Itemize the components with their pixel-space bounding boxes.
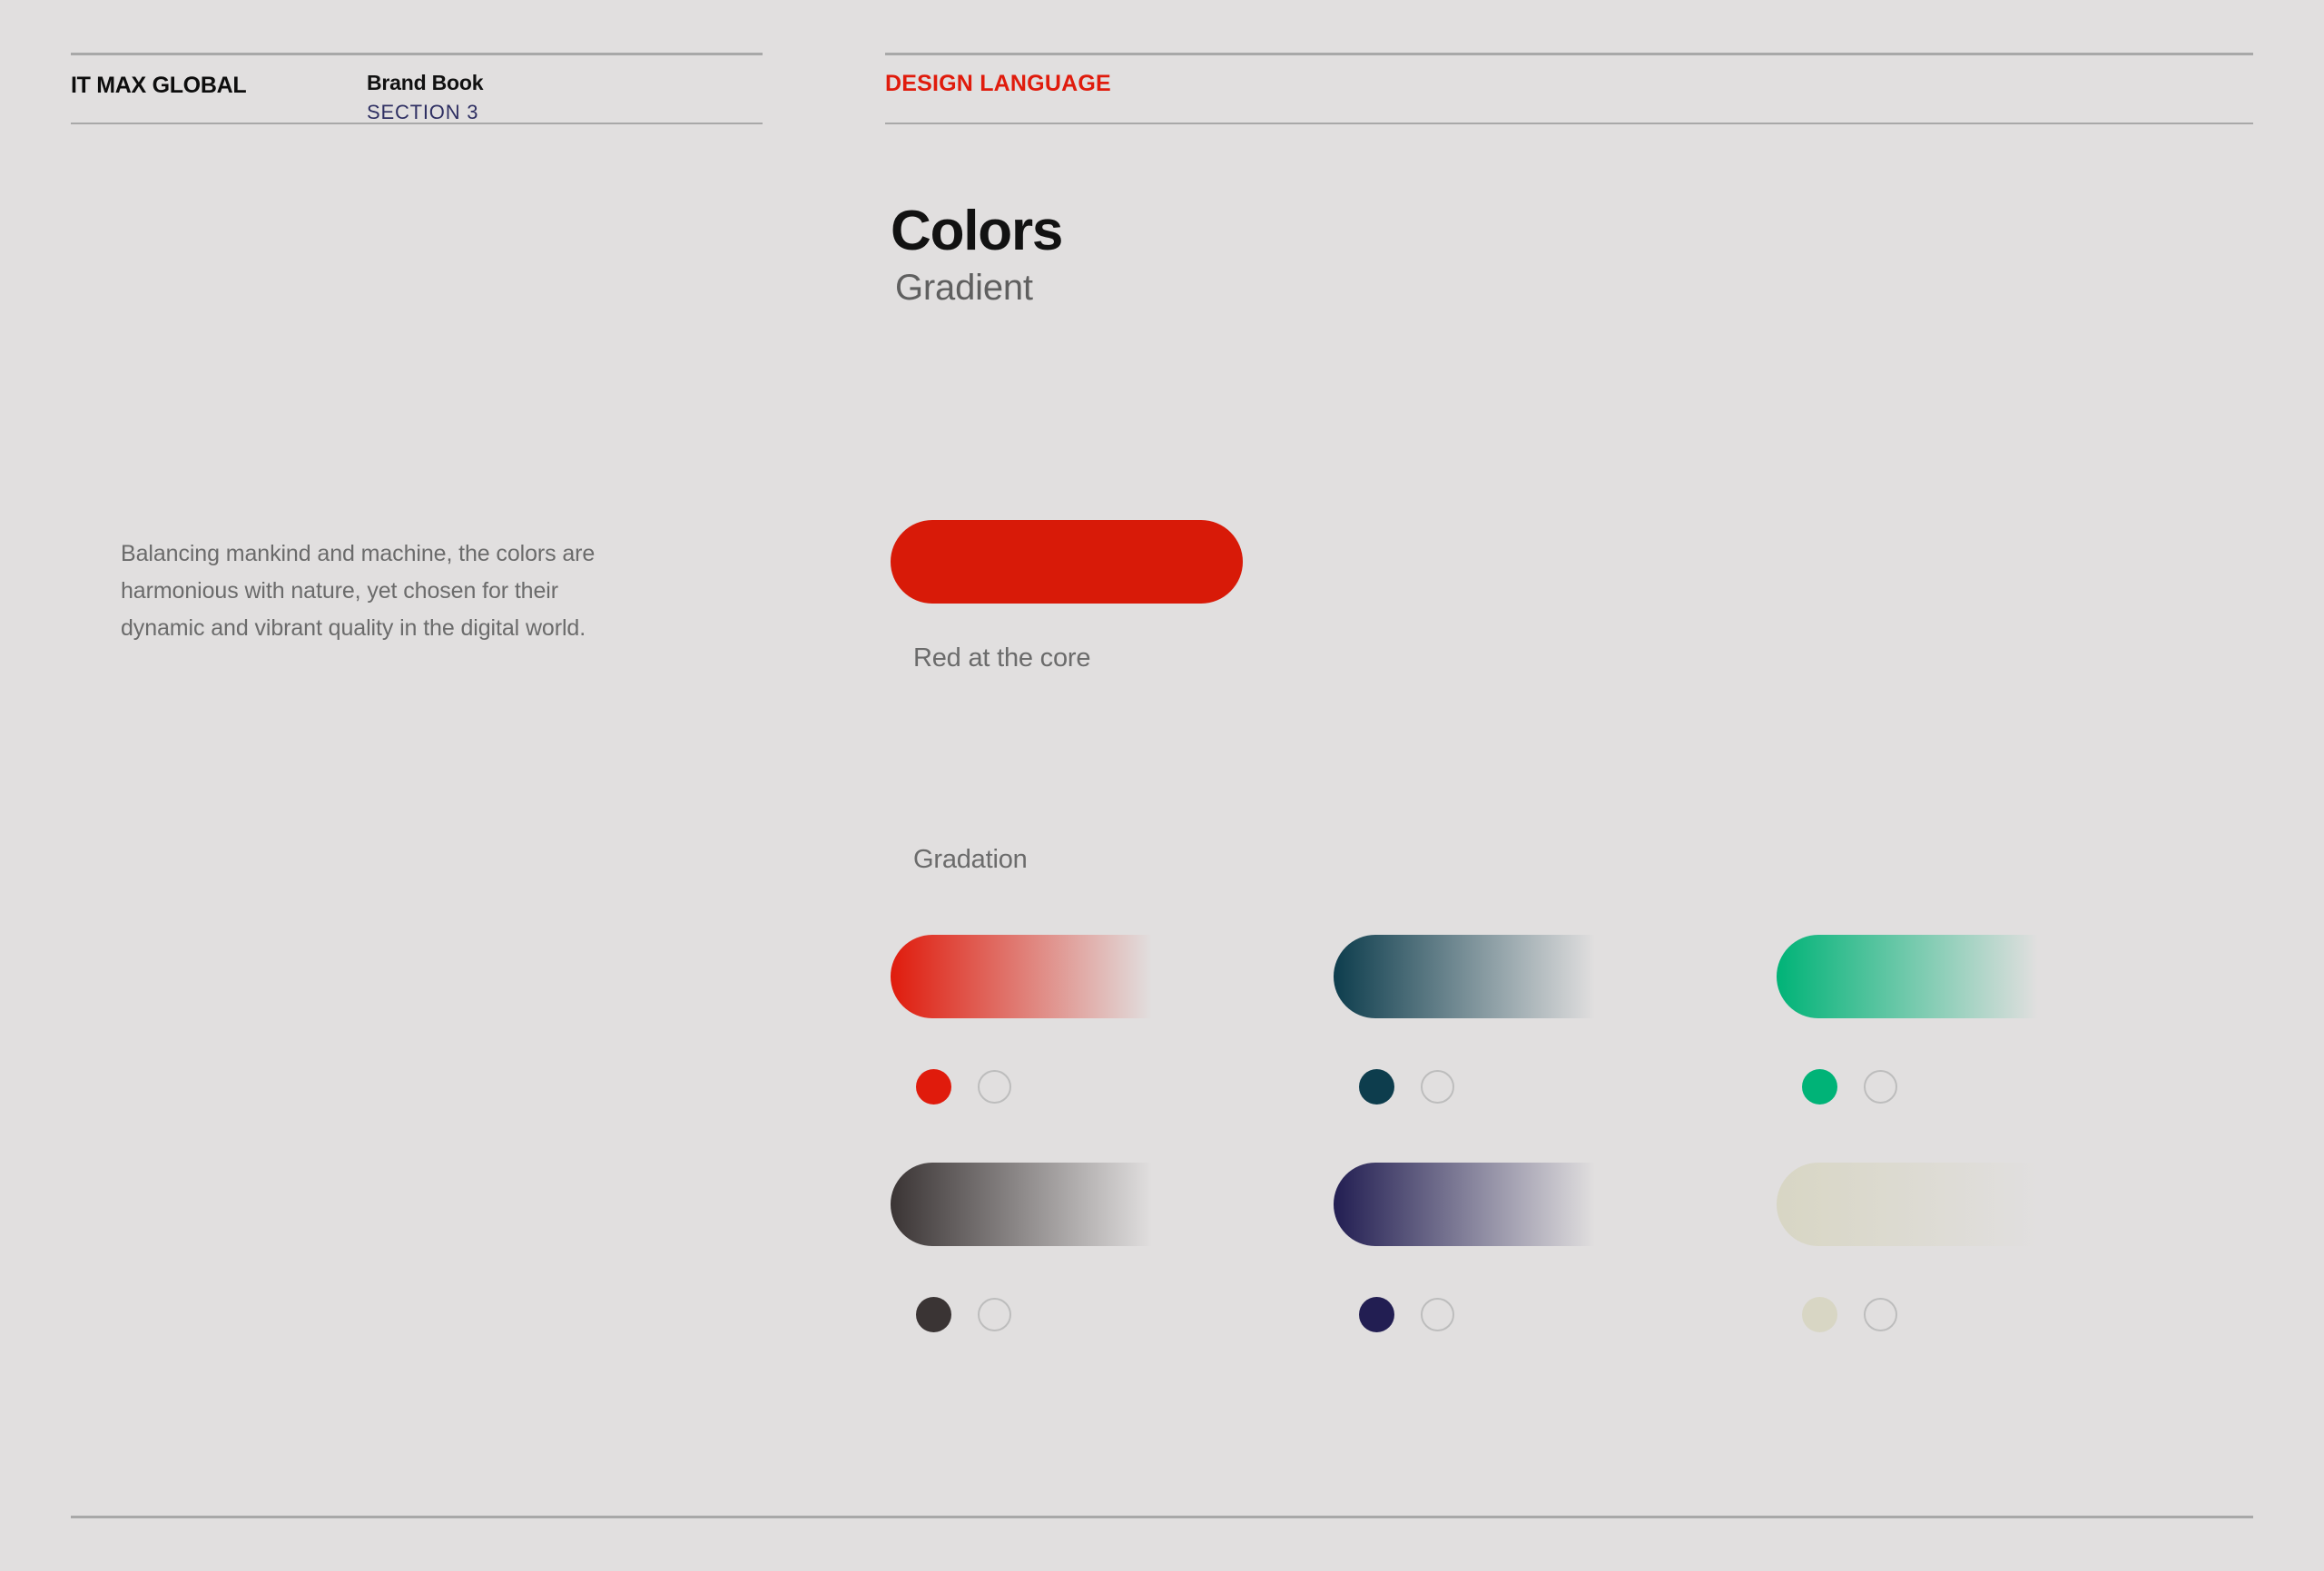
gradation-pill: [891, 935, 1254, 1018]
swatch-empty[interactable]: [1421, 1070, 1454, 1104]
gradation-pill: [1334, 935, 1697, 1018]
header-left: IT MAX GLOBAL Brand Book SECTION 3: [71, 53, 763, 124]
swatch-filled[interactable]: [1359, 1297, 1394, 1332]
page-title: Colors: [891, 201, 1062, 260]
gradation-pill: [891, 1163, 1254, 1246]
swatch-filled[interactable]: [1802, 1297, 1837, 1332]
swatch-filled[interactable]: [1802, 1069, 1837, 1105]
section-number-label: SECTION 3: [367, 98, 483, 126]
gradation-section-title: Gradation: [913, 845, 1028, 875]
swatch-empty[interactable]: [1421, 1298, 1454, 1331]
swatch-empty[interactable]: [1864, 1298, 1897, 1331]
gradation-pill: [1777, 935, 2140, 1018]
header-right-content: DESIGN LANGUAGE: [885, 55, 2253, 123]
swatch-filled[interactable]: [1359, 1069, 1394, 1105]
swatch-filled[interactable]: [916, 1297, 951, 1332]
gradation-item-indigo: [1334, 1163, 1777, 1390]
intro-paragraph: Balancing mankind and machine, the color…: [121, 535, 602, 646]
gradation-item-charcoal: [891, 1163, 1334, 1390]
swatch-empty[interactable]: [978, 1298, 1011, 1331]
core-color-pill: [891, 520, 1243, 604]
header-document-meta: Brand Book SECTION 3: [367, 68, 483, 126]
swatch-empty[interactable]: [978, 1070, 1011, 1104]
core-color-label: Red at the core: [913, 643, 1243, 673]
gradation-item-green: [1777, 935, 2220, 1163]
swatch-empty[interactable]: [1864, 1070, 1897, 1104]
header-right-bottom-rule: [885, 123, 2253, 124]
page-subtitle: Gradient: [895, 268, 1062, 309]
gradation-pill: [1777, 1163, 2140, 1246]
gradation-swatch-row: [1802, 1069, 1897, 1105]
core-color-block: Red at the core: [891, 520, 1243, 673]
gradation-item-beige: [1777, 1163, 2220, 1390]
gradation-swatch-row: [1359, 1069, 1454, 1105]
page-title-block: Colors Gradient: [891, 201, 1062, 309]
footer-rule: [71, 1516, 2253, 1518]
gradation-item-red: [891, 935, 1334, 1163]
gradation-swatch-row: [1359, 1297, 1454, 1332]
gradation-swatch-row: [916, 1069, 1011, 1105]
gradation-swatch-row: [916, 1297, 1011, 1332]
gradation-item-teal: [1334, 935, 1777, 1163]
header-right: DESIGN LANGUAGE: [885, 53, 2253, 124]
section-kicker-label: DESIGN LANGUAGE: [885, 71, 1111, 97]
header-left-content: IT MAX GLOBAL Brand Book SECTION 3: [71, 55, 763, 123]
swatch-filled[interactable]: [916, 1069, 951, 1105]
gradation-swatch-row: [1802, 1297, 1897, 1332]
document-title: Brand Book: [367, 68, 483, 98]
gradation-grid: [891, 935, 2180, 1390]
brand-book-page: IT MAX GLOBAL Brand Book SECTION 3 DESIG…: [0, 0, 2324, 1571]
gradation-pill: [1334, 1163, 1697, 1246]
brand-logo-text: IT MAX GLOBAL: [71, 73, 246, 99]
